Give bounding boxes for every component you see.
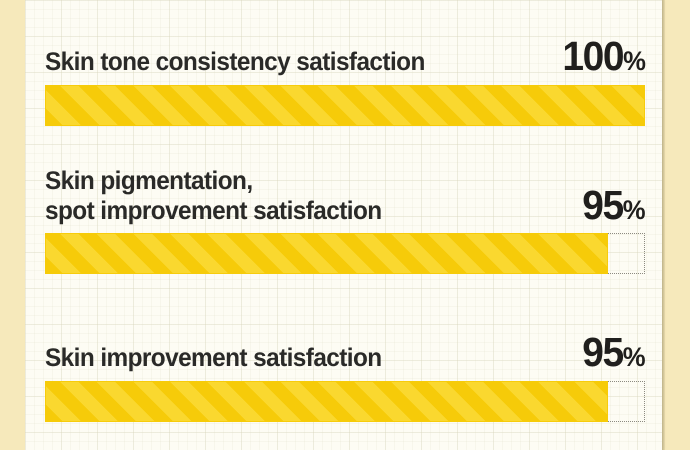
progress-track <box>45 85 645 126</box>
stat-value-number: 95 <box>582 182 622 228</box>
panel-right-edge <box>662 0 665 450</box>
stat-row-header: Skin improvement satisfaction 95% <box>45 332 645 373</box>
stat-value: 95% <box>582 185 645 226</box>
stat-row: Skin tone consistency satisfaction 100% <box>45 36 645 126</box>
progress-track-wrap <box>45 85 645 126</box>
progress-remainder <box>605 381 645 422</box>
stat-row: Skin pigmentation, spot improvement sati… <box>45 166 645 274</box>
progress-track <box>45 381 645 422</box>
stat-label: Skin pigmentation, spot improvement sati… <box>45 166 382 226</box>
progress-remainder <box>605 233 645 274</box>
percent-sign: % <box>623 195 645 225</box>
percent-sign: % <box>623 46 645 76</box>
percent-sign: % <box>623 342 645 372</box>
progress-track-wrap <box>45 381 645 422</box>
stat-row-header: Skin tone consistency satisfaction 100% <box>45 36 645 77</box>
stat-value: 95% <box>582 332 645 373</box>
stat-value-number: 100 <box>562 33 623 79</box>
stat-value-number: 95 <box>582 329 622 375</box>
stat-row: Skin improvement satisfaction 95% <box>45 332 645 422</box>
progress-fill <box>45 381 608 422</box>
progress-fill <box>45 85 645 126</box>
stat-value: 100% <box>562 36 645 77</box>
progress-fill <box>45 233 608 274</box>
progress-track <box>45 233 645 274</box>
stat-label: Skin improvement satisfaction <box>45 343 382 373</box>
progress-track-wrap <box>45 233 645 274</box>
infographic-canvas: Skin tone consistency satisfaction 100% … <box>0 0 690 450</box>
stat-label: Skin tone consistency satisfaction <box>45 47 425 77</box>
stat-row-header: Skin pigmentation, spot improvement sati… <box>45 166 645 226</box>
